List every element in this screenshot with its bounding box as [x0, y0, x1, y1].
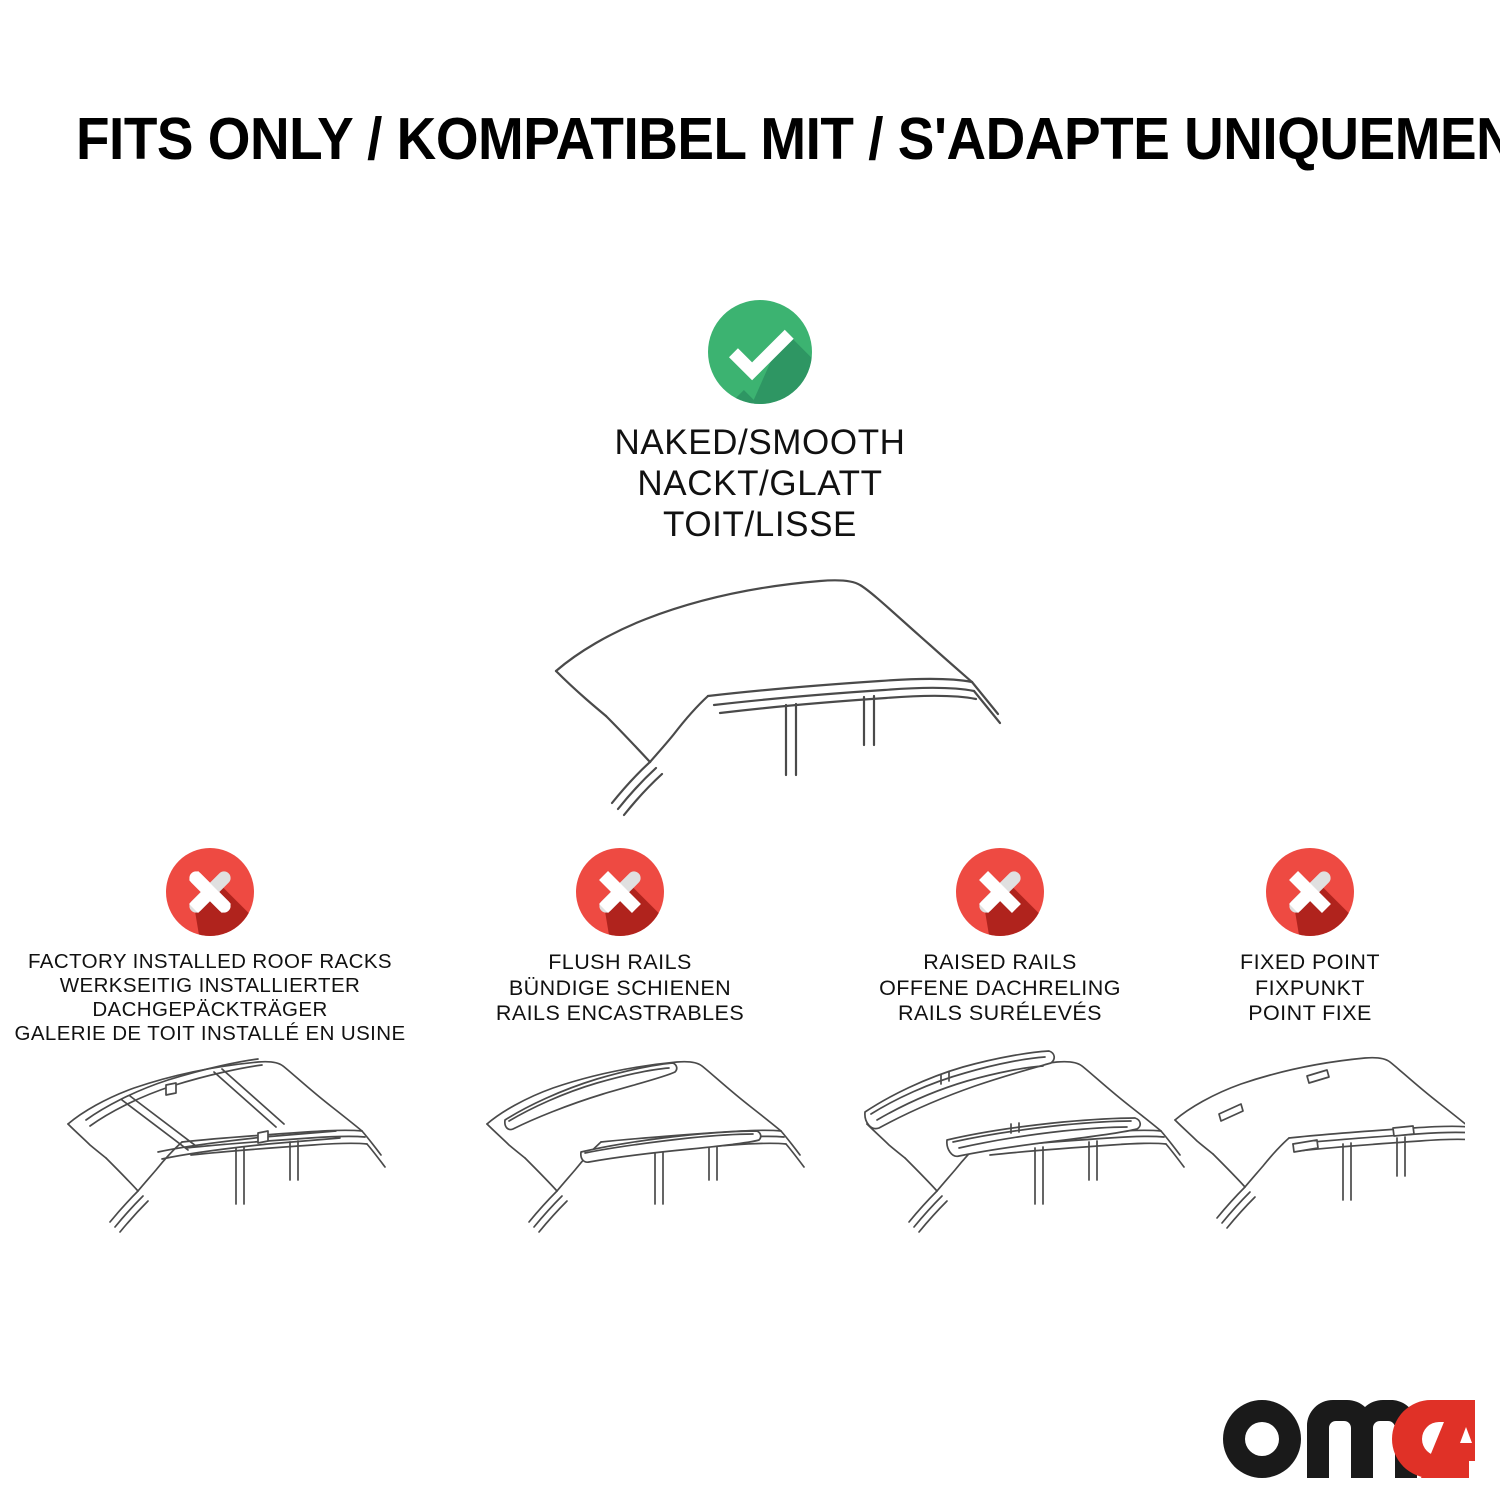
- check-circle-icon: [708, 300, 812, 404]
- fixed-point-labels: FIXED POINT FIXPUNKT POINT FIXE: [1175, 950, 1445, 1027]
- cross-circle-icon: [1266, 848, 1354, 936]
- cross-circle-icon: [576, 848, 664, 936]
- page-title: FITS ONLY / KOMPATIBEL MIT / S'ADAPTE UN…: [76, 108, 1332, 170]
- incompatible-card-factory-roof-racks: FACTORY INSTALLED ROOF RACKS WERKSEITIG …: [10, 848, 410, 1046]
- flush-label-de: BÜNDIGE SCHIENEN: [435, 976, 805, 1002]
- compatible-label-fr: TOIT/LISSE: [460, 504, 1060, 545]
- fixed-label-de: FIXPUNKT: [1175, 976, 1445, 1002]
- check-icon-wrap: [460, 300, 1060, 404]
- compatible-label-de: NACKT/GLATT: [460, 463, 1060, 504]
- car-roof-with-raised-rails-illustration: [815, 1028, 1185, 1258]
- compatible-label-en: NAKED/SMOOTH: [460, 422, 1060, 463]
- raised-rails-labels: RAISED RAILS OFFENE DACHRELING RAILS SUR…: [815, 950, 1185, 1027]
- flush-label-en: FLUSH RAILS: [435, 950, 805, 976]
- smooth-car-roof-illustration: [460, 559, 1060, 819]
- raised-label-de: OFFENE DACHRELING: [815, 976, 1185, 1002]
- compatible-labels: NAKED/SMOOTH NACKT/GLATT TOIT/LISSE: [460, 422, 1060, 545]
- car-roof-with-factory-racks-illustration: [10, 1028, 410, 1258]
- cross-circle-icon: [956, 848, 1044, 936]
- omac-logo: [1223, 1400, 1475, 1478]
- incompatible-card-fixed-point: FIXED POINT FIXPUNKT POINT FIXE: [1175, 848, 1445, 1027]
- compatible-roof-type-card: NAKED/SMOOTH NACKT/GLATT TOIT/LISSE: [460, 300, 1060, 819]
- incompatible-card-raised-rails: RAISED RAILS OFFENE DACHRELING RAILS SUR…: [815, 848, 1185, 1027]
- cross-circle-icon: [166, 848, 254, 936]
- omac-logo-mark: [1223, 1400, 1475, 1478]
- flush-rails-labels: FLUSH RAILS BÜNDIGE SCHIENEN RAILS ENCAS…: [435, 950, 805, 1027]
- car-roof-with-fixed-points-illustration: [1135, 1028, 1465, 1258]
- flush-label-fr: RAILS ENCASTRABLES: [435, 1001, 805, 1027]
- cross-icon-wrap-fixed: [1175, 848, 1445, 936]
- fixed-label-fr: POINT FIXE: [1175, 1001, 1445, 1027]
- compatibility-infographic: FITS ONLY / KOMPATIBEL MIT / S'ADAPTE UN…: [0, 0, 1500, 1500]
- factory-label-de-2: DACHGEPÄCKTRÄGER: [10, 998, 410, 1022]
- factory-label-en: FACTORY INSTALLED ROOF RACKS: [10, 950, 410, 974]
- factory-label-de-1: WERKSEITIG INSTALLIERTER: [10, 974, 410, 998]
- cross-icon-wrap-raised: [815, 848, 1185, 936]
- car-roof-with-flush-rails-illustration: [435, 1028, 805, 1258]
- raised-label-en: RAISED RAILS: [815, 950, 1185, 976]
- cross-icon-wrap-factory: [10, 848, 410, 936]
- raised-label-fr: RAILS SURÉLEVÉS: [815, 1001, 1185, 1027]
- cross-icon-wrap-flush: [435, 848, 805, 936]
- fixed-label-en: FIXED POINT: [1175, 950, 1445, 976]
- incompatible-card-flush-rails: FLUSH RAILS BÜNDIGE SCHIENEN RAILS ENCAS…: [435, 848, 805, 1027]
